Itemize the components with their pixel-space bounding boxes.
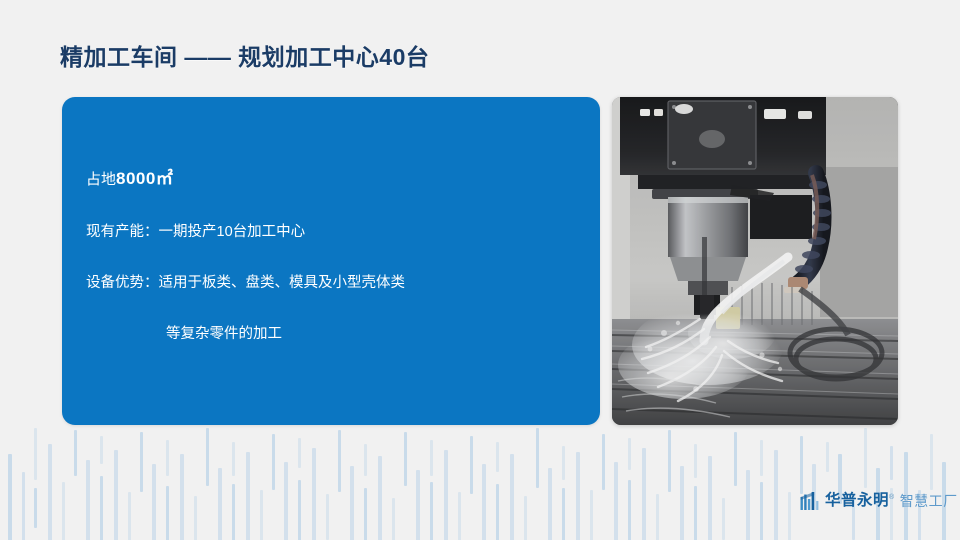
decorative-bar (140, 432, 143, 492)
decorative-bar (312, 448, 316, 540)
decorative-bar (86, 460, 90, 540)
decorative-bar (246, 452, 250, 540)
decorative-bar (444, 450, 448, 540)
decorative-bar (166, 486, 169, 540)
panel-line-advantage-continued: 等复杂零件的加工 (86, 324, 580, 345)
decorative-bar (100, 436, 103, 464)
logo-trademark: ® (889, 494, 895, 501)
decorative-bar (482, 464, 486, 540)
decorative-bar (284, 462, 288, 540)
decorative-bar (272, 434, 275, 490)
decorative-bar (930, 434, 933, 490)
decorative-bar (392, 498, 395, 540)
panel-line-capacity: 现有产能：一期投产10台加工中心 (86, 222, 580, 243)
decorative-bar (350, 466, 354, 540)
decorative-bar (734, 432, 737, 486)
area-unit: ㎡ (156, 169, 174, 188)
decorative-bar (364, 444, 367, 476)
presentation-slide: 精加工车间 —— 规划加工中心40台 占地8000㎡ 现有产能：一期投产10台加… (0, 0, 960, 540)
decorative-bar (496, 484, 499, 540)
decorative-bar (48, 444, 52, 540)
decorative-bar (62, 482, 65, 540)
logo-brand-text: 华普永明 (825, 492, 889, 509)
area-value: 8000 (116, 169, 156, 188)
panel-line-area: 占地8000㎡ (86, 167, 580, 192)
decorative-bar (232, 484, 235, 540)
decorative-bar (364, 488, 367, 540)
decorative-bar (694, 486, 697, 540)
machining-center-photo-icon (612, 97, 898, 425)
decorative-bar (722, 498, 725, 540)
decorative-bar (642, 448, 646, 540)
info-panel: 占地8000㎡ 现有产能：一期投产10台加工中心 设备优势：适用于板类、盘类、模… (62, 97, 600, 425)
decorative-bar (656, 494, 659, 540)
decorative-bar (404, 432, 407, 486)
decorative-bar (708, 456, 712, 540)
decorative-bar (826, 442, 829, 472)
decorative-bar (298, 438, 301, 468)
decorative-bar (326, 494, 329, 540)
decorative-bar (562, 488, 565, 540)
decorative-bar (100, 476, 103, 540)
decorative-bar-field (0, 424, 960, 540)
decorative-bar (260, 490, 263, 540)
decorative-bar (128, 492, 131, 540)
decorative-bar (562, 446, 565, 480)
decorative-bar (180, 454, 184, 540)
decorative-bar (378, 456, 382, 540)
logo-brand-name: 华普永明® (825, 493, 895, 509)
decorative-bar (194, 496, 197, 540)
decorative-bar (800, 436, 803, 494)
decorative-bar (760, 482, 763, 540)
decorative-bar (166, 440, 169, 476)
decorative-bar (206, 428, 209, 486)
decorative-bar (22, 472, 25, 540)
decorative-bar (668, 430, 671, 492)
huapu-logo-mark-icon (800, 492, 820, 511)
decorative-bar (430, 482, 433, 540)
decorative-bar (496, 442, 499, 472)
decorative-bar (694, 444, 697, 478)
decorative-bar (760, 440, 763, 476)
info-panel-body: 占地8000㎡ 现有产能：一期投产10台加工中心 设备优势：适用于板类、盘类、模… (86, 167, 580, 345)
decorative-bar (746, 470, 750, 540)
decorative-bar (458, 492, 461, 540)
decorative-bar (74, 430, 77, 476)
machining-center-photo (612, 97, 898, 425)
page-title: 精加工车间 —— 规划加工中心40台 (60, 38, 429, 72)
logo-tagline: 智慧工厂 (900, 494, 958, 508)
decorative-bar (602, 434, 605, 490)
brand-logo: 华普永明® 智慧工厂 (800, 489, 958, 513)
decorative-bar (590, 490, 593, 540)
decorative-bar (232, 442, 235, 476)
decorative-bar (890, 446, 893, 480)
decorative-bar (576, 452, 580, 540)
panel-line-advantage: 设备优势：适用于板类、盘类、模具及小型壳体类 (86, 273, 580, 294)
decorative-bar (628, 438, 631, 470)
decorative-bar (680, 466, 684, 540)
decorative-bar (548, 468, 552, 540)
decorative-bar (788, 492, 791, 540)
decorative-bar (614, 462, 618, 540)
decorative-bar (34, 488, 37, 528)
decorative-bar (774, 450, 778, 540)
decorative-bar (338, 430, 341, 492)
decorative-bar (298, 480, 301, 540)
decorative-bar (416, 470, 420, 540)
decorative-bar (510, 454, 514, 540)
area-prefix: 占地 (86, 171, 116, 188)
decorative-bar (34, 428, 37, 480)
decorative-bar (114, 450, 118, 540)
decorative-bar (152, 464, 156, 540)
decorative-bar (430, 440, 433, 476)
decorative-bar (536, 428, 539, 488)
decorative-bar (864, 428, 867, 488)
decorative-bar (524, 496, 527, 540)
decorative-bar (218, 468, 222, 540)
decorative-bar (628, 480, 631, 540)
decorative-bar (8, 454, 12, 540)
decorative-bar (470, 436, 473, 494)
